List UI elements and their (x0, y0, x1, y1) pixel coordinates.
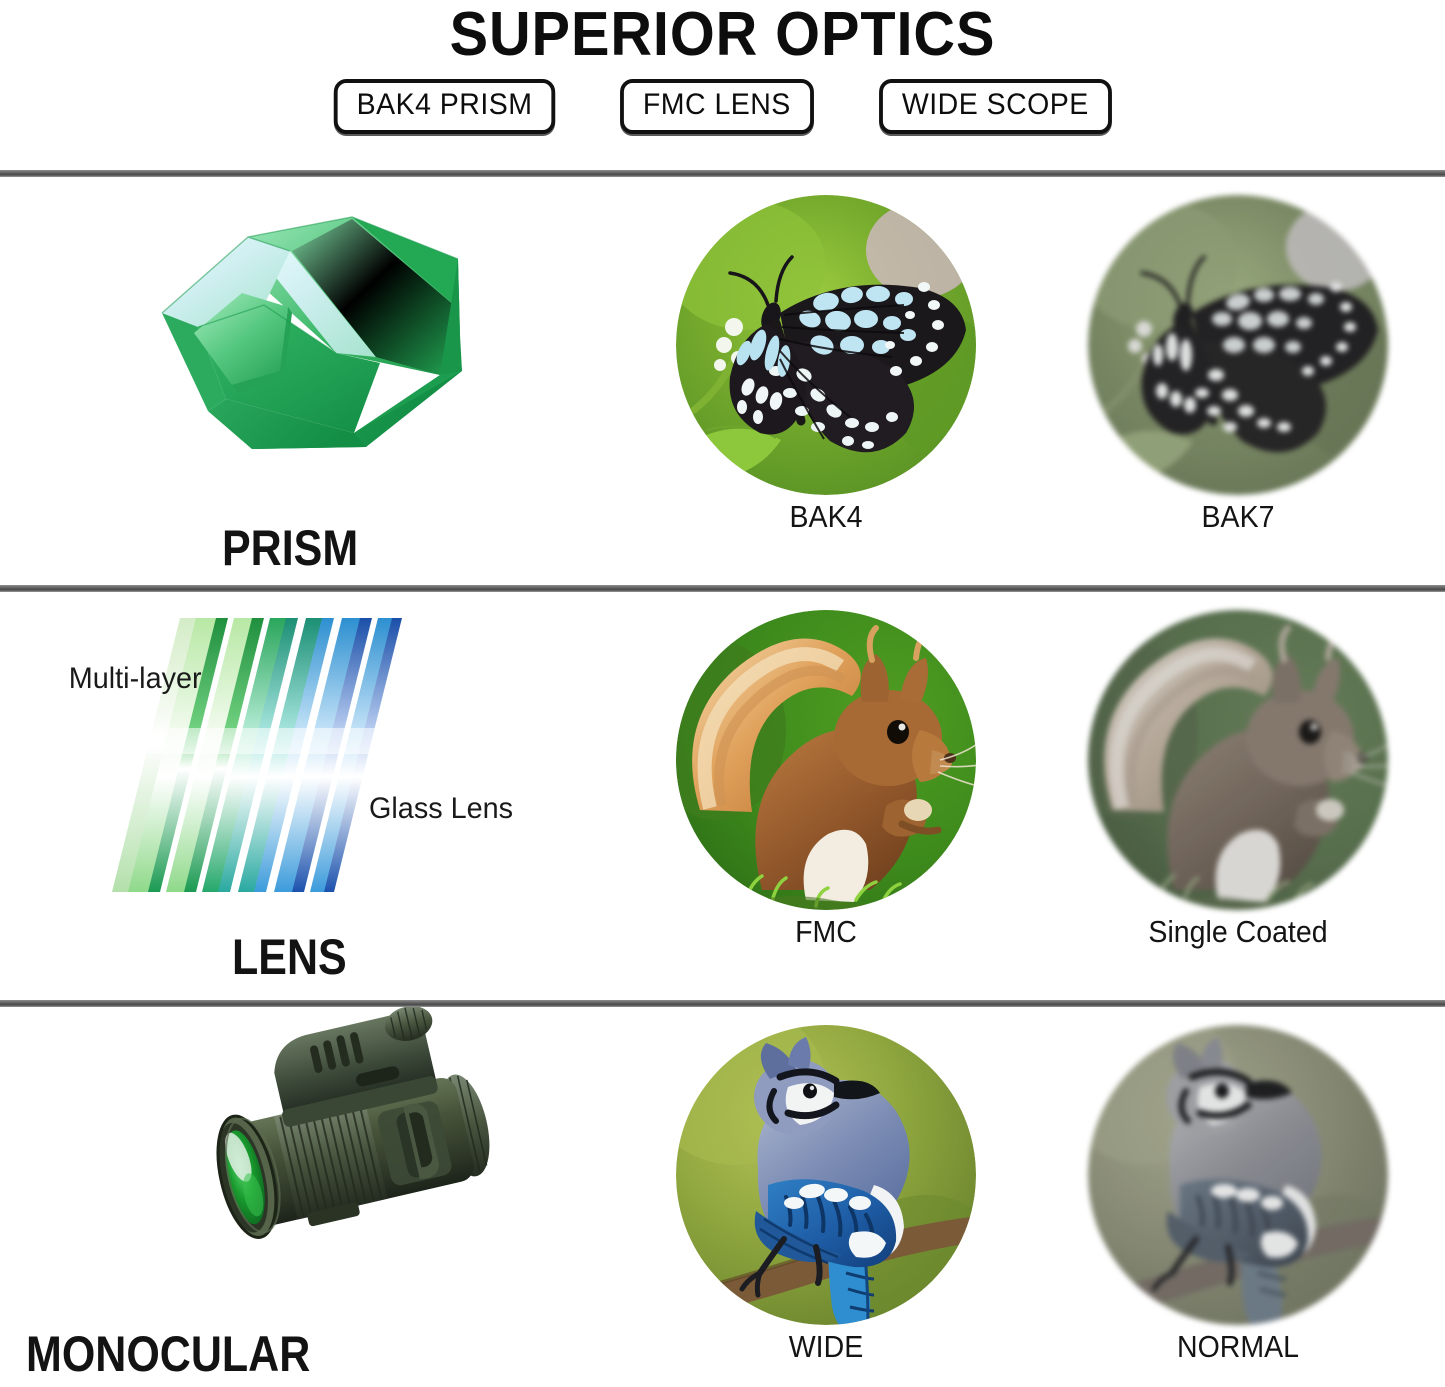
caption-bak7: BAK7 (1048, 499, 1427, 535)
lens-illustration-cell: Multi-layer Glass Lens LENS (0, 592, 620, 1000)
circle-wrap-normal (1088, 1025, 1388, 1325)
header: SUPERIOR OPTICS BAK4 PRISM FMC LENS WIDE… (0, 0, 1445, 170)
lens-stack-icon: Multi-layer Glass Lens (30, 600, 590, 900)
photo-bluejay-wide (676, 1025, 976, 1325)
monocular-sample-normal: NORMAL (1032, 1007, 1444, 1387)
photo-squirrel-fmc (676, 610, 976, 910)
caption-single-coated: Single Coated (1048, 914, 1427, 950)
monocular-illustration-cell: MONOCULAR (0, 1007, 620, 1387)
row-label-prism: PRISM (222, 519, 358, 577)
divider-top (0, 170, 1445, 177)
row-lens: Multi-layer Glass Lens LENS (0, 592, 1445, 1000)
feature-badge-row: BAK4 PRISM FMC LENS WIDE SCOPE (0, 79, 1445, 134)
photo-butterfly-bak7 (1088, 195, 1388, 495)
lens-sample-fmc: FMC (620, 592, 1032, 1000)
circle-wrap-single-coated (1088, 610, 1388, 910)
caption-wide: WIDE (636, 1329, 1015, 1365)
badge-bak4-prism: BAK4 PRISM (334, 79, 555, 134)
photo-bluejay-normal (1088, 1025, 1388, 1325)
caption-fmc: FMC (636, 914, 1015, 950)
badge-wide-scope: WIDE SCOPE (879, 79, 1111, 134)
photo-butterfly-bak4 (676, 195, 976, 495)
divider-mid-1 (0, 585, 1445, 592)
circle-wrap-bak7 (1088, 195, 1388, 495)
row-label-lens: LENS (232, 928, 347, 986)
circle-wrap-bak4 (676, 195, 976, 495)
circle-wrap-wide (676, 1025, 976, 1325)
prism-sample-bak7: BAK7 (1032, 177, 1444, 585)
caption-normal: NORMAL (1048, 1329, 1427, 1365)
monocular-sample-wide: WIDE (620, 1007, 1032, 1387)
divider-mid-2 (0, 1000, 1445, 1007)
row-monocular: MONOCULAR (0, 1007, 1445, 1387)
page-title: SUPERIOR OPTICS (51, 0, 1395, 67)
monocular-icon (120, 1007, 540, 1317)
circle-wrap-fmc (676, 610, 976, 910)
photo-squirrel-single-coated (1088, 610, 1388, 910)
row-prism: PRISM (0, 177, 1445, 585)
prism-illustration-cell: PRISM (0, 177, 620, 585)
caption-bak4: BAK4 (636, 499, 1015, 535)
label-multi-layer: Multi-layer (69, 662, 202, 696)
badge-fmc-lens: FMC LENS (620, 79, 814, 134)
prism-icon (140, 185, 540, 485)
label-glass-lens: Glass Lens (369, 792, 513, 826)
row-label-monocular: MONOCULAR (26, 1325, 310, 1383)
prism-sample-bak4: BAK4 (620, 177, 1032, 585)
lens-sample-single-coated: Single Coated (1032, 592, 1444, 1000)
